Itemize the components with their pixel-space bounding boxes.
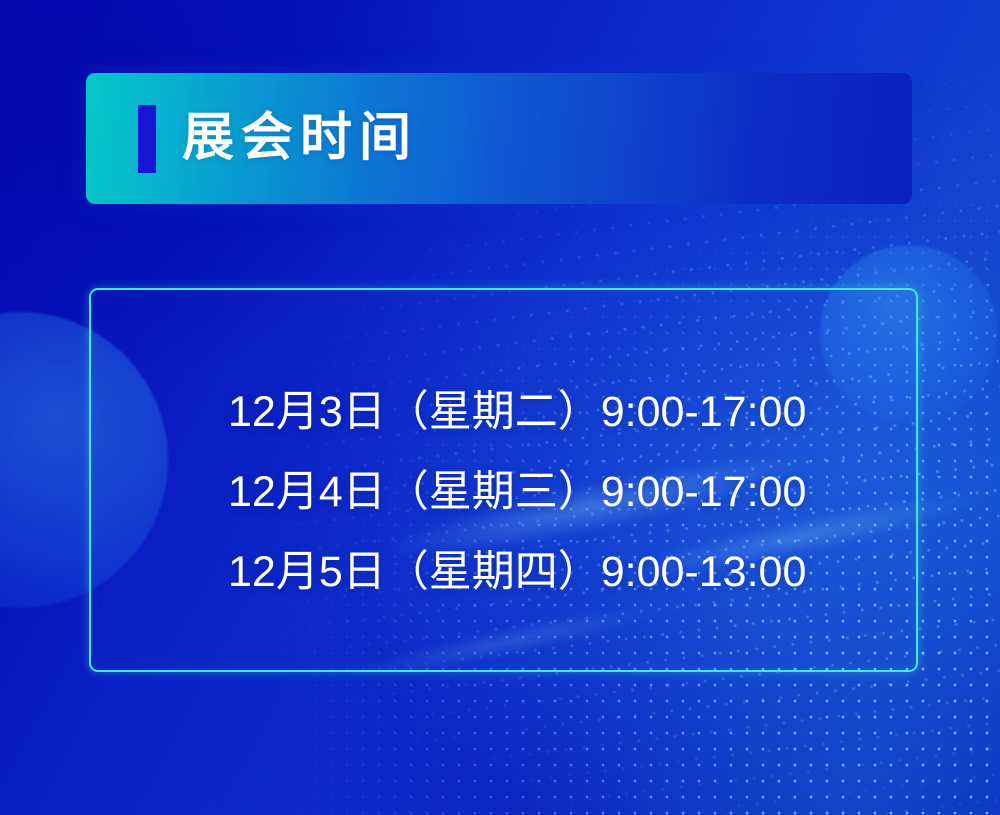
schedule-list: 12月3日（星期二）9:00-17:00 12月4日（星期三）9:00-17:0… bbox=[228, 372, 848, 612]
schedule-line: 12月4日（星期三）9:00-17:00 bbox=[228, 452, 848, 532]
schedule-line: 12月3日（星期二）9:00-17:00 bbox=[228, 372, 848, 452]
schedule-line: 12月5日（星期四）9:00-13:00 bbox=[228, 532, 848, 612]
accent-bar-icon bbox=[138, 105, 156, 173]
poster-canvas: 展会时间 12月3日（星期二）9:00-17:00 12月4日（星期三）9:00… bbox=[0, 0, 1000, 815]
page-title: 展会时间 bbox=[182, 99, 418, 177]
header-banner: 展会时间 bbox=[86, 73, 912, 204]
